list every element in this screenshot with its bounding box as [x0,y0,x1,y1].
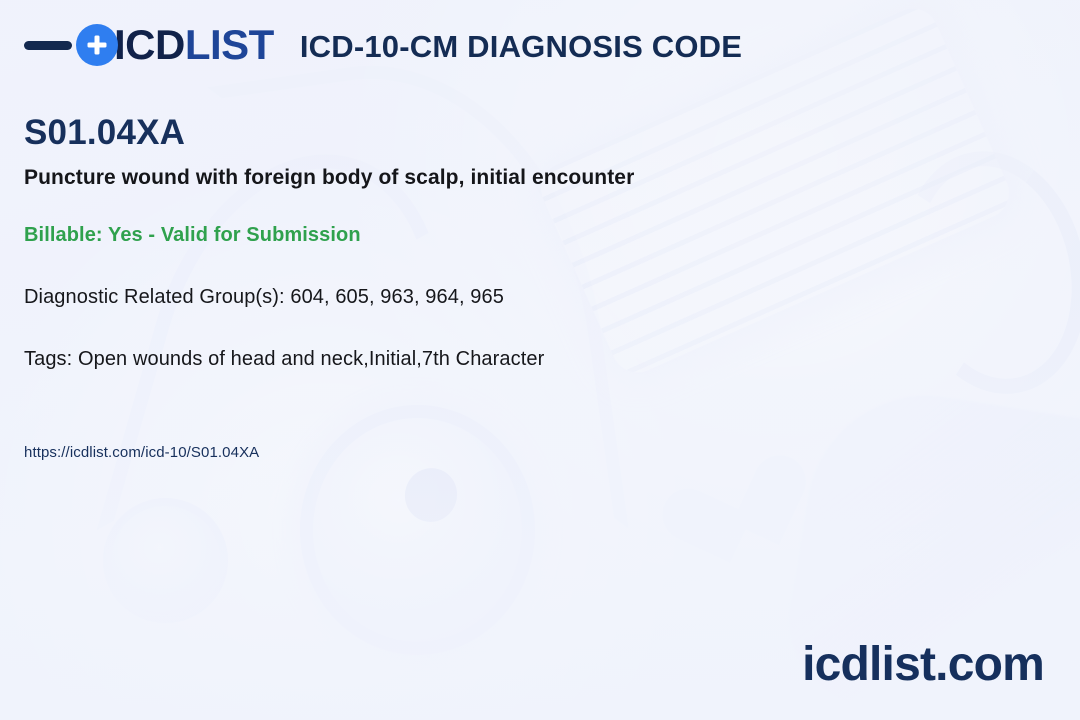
logo-word-list: LIST [185,21,274,68]
header: ICDLIST ICD-10-CM DIAGNOSIS CODE [24,24,742,66]
billable-status: Billable: Yes - Valid for Submission [24,224,361,247]
diagnosis-code: S01.04XA [24,113,185,153]
diagnostic-related-groups: Diagnostic Related Group(s): 604, 605, 9… [24,286,504,309]
plus-circle-icon [76,24,118,66]
logo-wordmark: ICDLIST [114,24,274,66]
logo-word-icd: ICD [114,21,185,68]
diagnosis-description: Puncture wound with foreign body of scal… [24,166,634,190]
icdlist-logo[interactable]: ICDLIST [24,24,274,66]
tags-list: Tags: Open wounds of head and neck,Initi… [24,348,544,371]
page-title: ICD-10-CM DIAGNOSIS CODE [300,26,742,65]
source-url[interactable]: https://icdlist.com/icd-10/S01.04XA [24,444,259,461]
icd-code-card: ICDLIST ICD-10-CM DIAGNOSIS CODE S01.04X… [0,0,1080,720]
card-content: ICDLIST ICD-10-CM DIAGNOSIS CODE S01.04X… [0,0,1080,720]
footer-brand: icdlist.com [802,637,1044,692]
dash-icon [24,41,72,50]
